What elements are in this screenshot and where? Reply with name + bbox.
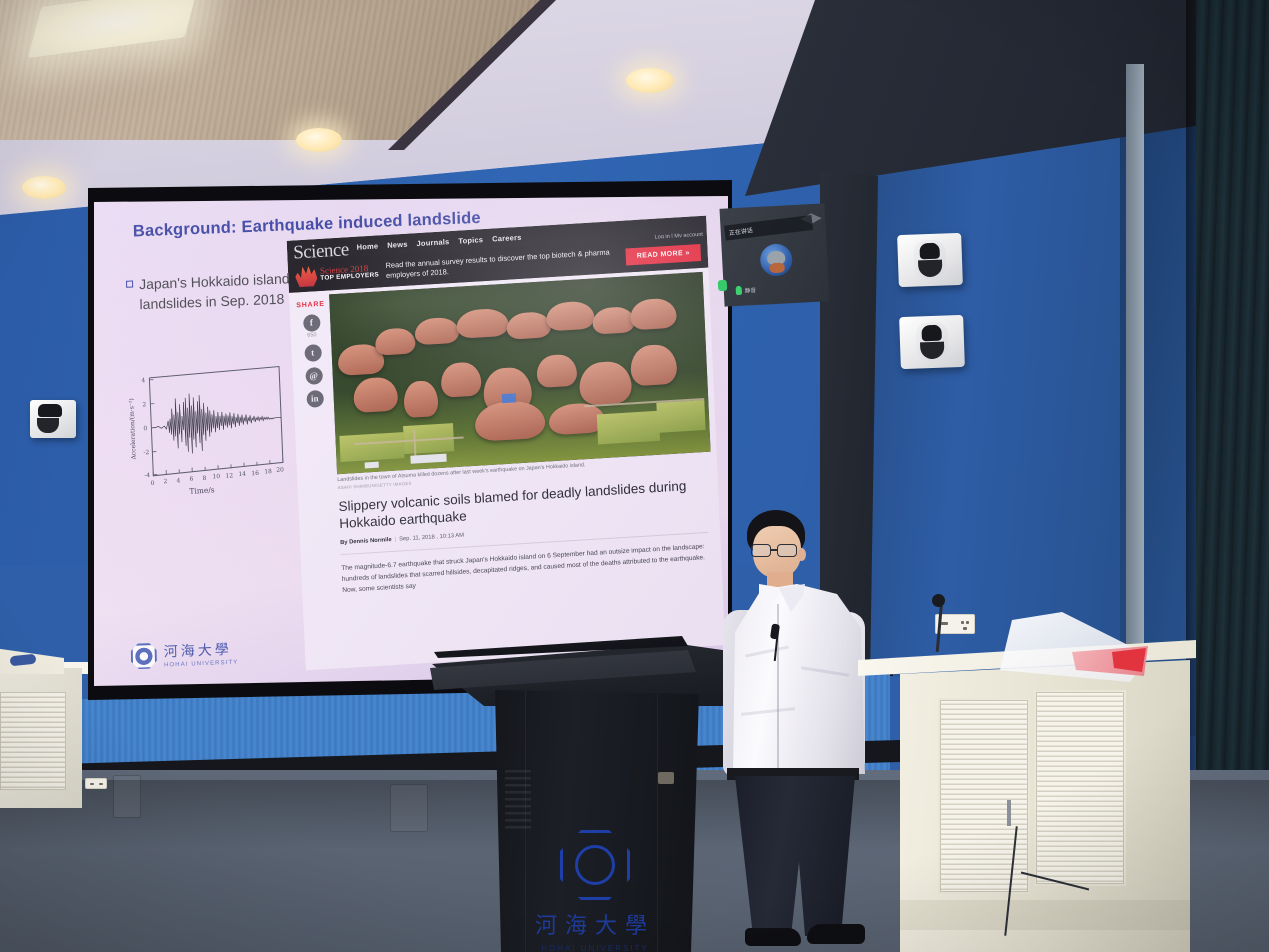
nav-item-careers[interactable]: Careers (492, 233, 522, 244)
slide-footer-logo: 河海大學 HOHAI UNIVERSITY (131, 639, 239, 670)
podium-branding: 河海大學 HOHAI UNIVERSITY (520, 830, 670, 952)
article-author[interactable]: By Dennis Normile (340, 537, 392, 546)
read-more-button[interactable]: READ MORE » (625, 244, 701, 265)
microphone-icon (736, 286, 742, 295)
cabinet-louver-panel (0, 692, 66, 790)
byline-separator: | (395, 537, 397, 543)
socket-hole (99, 783, 103, 785)
wall-access-panel-left (113, 775, 141, 818)
presenter-shoe-right (807, 924, 865, 944)
slide-logo-cn: 河海大學 (164, 639, 239, 662)
svg-text:18: 18 (264, 468, 272, 475)
power-socket-wainscot-left[interactable] (85, 778, 107, 789)
wall-speaker-left (30, 400, 76, 438)
socket-hole (90, 783, 94, 785)
cabinet-door-right[interactable] (1034, 690, 1126, 886)
svg-text:4: 4 (176, 477, 180, 484)
projection-screen-assembly: Background: Earthquake induced landslide… (80, 180, 740, 700)
speaker-cone-icon (915, 321, 948, 362)
rice-field (597, 411, 660, 445)
hohai-emblem-icon (560, 830, 630, 900)
flame-icon (295, 264, 318, 287)
reddit-icon[interactable]: @ (305, 367, 323, 385)
glasses-lens-left (751, 544, 771, 557)
ad-badge-subtitle: TOP EMPLOYERS (320, 273, 379, 283)
svg-text:14: 14 (238, 471, 246, 478)
hohai-emblem-icon (131, 642, 158, 669)
svg-text:4: 4 (141, 377, 145, 384)
nav-item-topics[interactable]: Topics (458, 235, 483, 245)
ad-copy: Read the annual survey results to discov… (385, 247, 619, 281)
podium-vent-grille (505, 770, 531, 832)
right-cabinet-skirt (900, 900, 1190, 930)
slide-bullet: Japan's Hokkaido island landslides in Se… (126, 268, 302, 315)
mute-label: 静音 (745, 286, 757, 295)
nav-item-journals[interactable]: Journals (416, 237, 449, 248)
cabinet-door-left[interactable] (938, 698, 1030, 894)
building (365, 462, 379, 469)
presentation-photo: Background: Earthquake induced landslide… (0, 0, 1269, 952)
science-article-screenshot: Science Home News Journals Topics Career… (287, 216, 726, 671)
svg-text:12: 12 (225, 472, 233, 479)
rice-field (656, 400, 705, 433)
socket-hole (963, 627, 967, 630)
facebook-icon[interactable]: f (302, 314, 320, 332)
landslide-scar (353, 376, 398, 413)
svg-text:Time/s: Time/s (189, 485, 215, 495)
svg-text:0: 0 (151, 480, 155, 487)
socket-hole (961, 621, 964, 624)
podium-logo-en: HOHAI UNIVERSITY (520, 944, 670, 952)
participant-avatar (759, 243, 793, 277)
article-paragraph: The magnitude-6.7 earthquake that struck… (341, 541, 710, 596)
svg-text:8: 8 (202, 475, 206, 482)
downlight-3 (22, 176, 66, 199)
article-body: SHARE f 650 t @ in (289, 272, 722, 599)
presentation-slide: Background: Earthquake induced landslide… (94, 196, 728, 686)
wall-speaker-lower (899, 315, 965, 369)
twitter-icon[interactable]: t (304, 344, 322, 362)
nav-item-news[interactable]: News (387, 240, 408, 250)
microphone-icon (932, 594, 945, 607)
podium-logo-cn: 河海大學 (520, 908, 670, 940)
svg-text:-2: -2 (143, 449, 149, 456)
landslide-scar (375, 327, 416, 355)
share-label: SHARE (295, 301, 325, 310)
share-column: SHARE f 650 t @ in (295, 301, 330, 409)
facebook-share-count: 650 (297, 332, 327, 340)
ad-badge: Science 2018 TOP EMPLOYERS (295, 260, 380, 287)
podium-lock[interactable] (658, 772, 674, 784)
presenter-shoe-left (745, 928, 801, 946)
svg-text:20: 20 (276, 466, 284, 473)
status-led-green (718, 280, 728, 292)
wall-access-panel-right (390, 784, 428, 832)
svg-text:10: 10 (212, 473, 220, 480)
downlight-1 (296, 128, 342, 152)
presenter-trousers (729, 776, 857, 936)
svg-text:2: 2 (163, 478, 167, 485)
right-wall-light-strip (1126, 64, 1144, 684)
rice-field (339, 432, 404, 462)
landslide-aerial-photo (329, 272, 710, 474)
svg-text:-4: -4 (144, 472, 150, 479)
svg-text:Acceleration/(m·s⁻²): Acceleration/(m·s⁻²) (128, 398, 138, 461)
projection-screen: Background: Earthquake induced landslide… (94, 196, 728, 686)
video-call-monitor[interactable]: ◀▶ 正在讲话 静音 (720, 203, 830, 306)
accelerogram-svg: 4 2 0 -2 -4 (119, 362, 292, 499)
glasses-lens-right (777, 544, 797, 557)
eyeglasses-icon (751, 544, 803, 557)
accelerogram-chart: 4 2 0 -2 -4 (119, 362, 292, 499)
speaker-cone-icon (913, 239, 946, 280)
socket-hole (966, 621, 969, 624)
cabinet-keys[interactable] (1007, 800, 1011, 826)
red-label (1112, 648, 1146, 672)
presenter (715, 500, 895, 952)
active-speaker-label: 正在讲话 (728, 225, 753, 237)
mute-indicator[interactable]: 静音 (736, 285, 757, 295)
svg-text:16: 16 (251, 470, 259, 477)
linkedin-icon[interactable]: in (306, 390, 324, 408)
active-speaker-banner: 正在讲话 (724, 215, 813, 241)
article-date: Sep. 11, 2018 , 10:13 AM (399, 533, 464, 543)
wall-speaker-upper (897, 233, 963, 287)
landslide-scar (536, 354, 577, 388)
svg-text:2: 2 (142, 401, 146, 408)
svg-text:0: 0 (143, 425, 147, 432)
slide-bullet-text: Japan's Hokkaido island landslides in Se… (139, 268, 302, 315)
svg-text:6: 6 (189, 476, 193, 483)
blue-roof-building (502, 393, 516, 403)
left-cabinet[interactable] (0, 668, 82, 808)
socket-hole (941, 622, 948, 625)
downlight-2 (626, 68, 674, 93)
bullet-square-icon (126, 281, 133, 288)
nav-item-home[interactable]: Home (356, 241, 378, 251)
